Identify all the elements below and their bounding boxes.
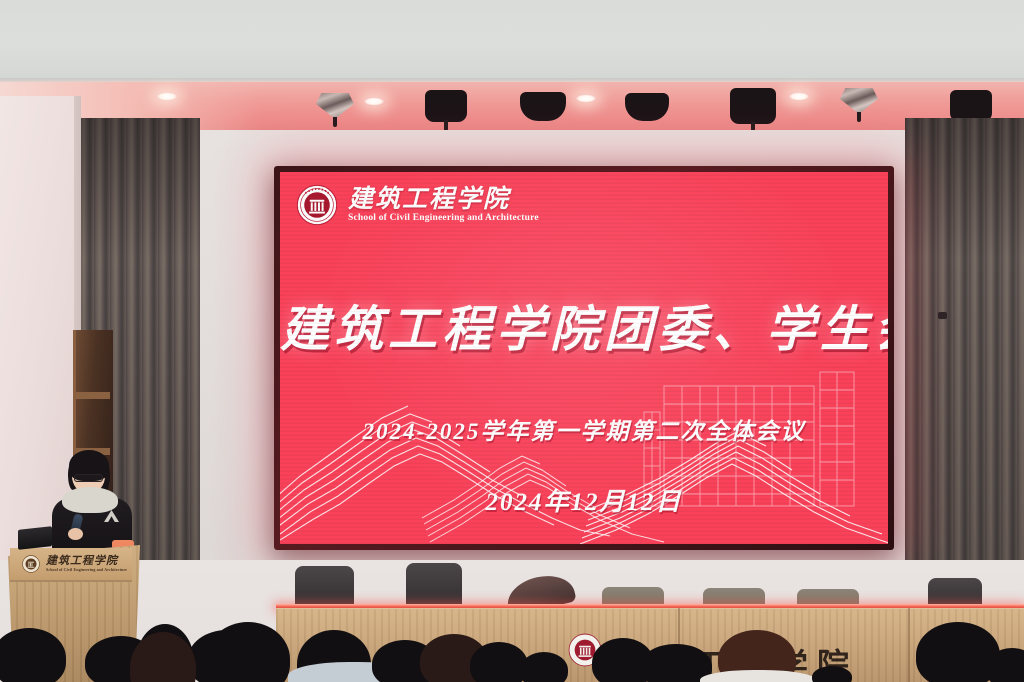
audience-head (812, 666, 852, 682)
screen-logo-english: School of Civil Engineering and Architec… (348, 214, 539, 224)
recessed-downlight (575, 94, 597, 103)
stage-curtain-right (905, 118, 1024, 618)
recessed-downlight (156, 92, 178, 101)
college-column-emblem-icon (296, 184, 338, 226)
stage-spotlight (520, 92, 566, 121)
speaker-hand (68, 528, 83, 540)
podium-chinese: 建筑工程学院 (46, 556, 127, 567)
mountain-line-art (280, 384, 888, 544)
head-table-seam (908, 608, 910, 682)
screen-dateline: 2024年12月12日 (280, 482, 888, 518)
audience-head (520, 652, 568, 682)
audience-shoulder (700, 670, 816, 682)
screen-headline: 建筑工程学院团委、学生会 (280, 290, 888, 361)
speaker-hood (62, 487, 118, 513)
lecture-hall-scene: 建筑工程学院 School of Civil Engineering and A… (0, 0, 1024, 682)
podium-emblem-icon (22, 555, 40, 573)
podium-nameplate: 建筑工程学院 School of Civil Engineering and A… (10, 548, 132, 582)
podium-laptop (18, 526, 52, 550)
stage-spotlight (625, 93, 669, 121)
audience-head (470, 642, 528, 682)
recessed-downlight (788, 92, 810, 101)
wall-speaker-box (938, 312, 947, 319)
stage-spotlight-stem (857, 112, 861, 122)
door-shelf (76, 392, 110, 399)
stage-spotlight (730, 88, 776, 124)
led-stage-screen: 建筑工程学院 School of Civil Engineering and A… (274, 166, 894, 550)
stage-spotlight-stem (333, 117, 337, 127)
screen-surface: 建筑工程学院 School of Civil Engineering and A… (280, 172, 888, 544)
screen-logo-chinese: 建筑工程学院 (348, 187, 539, 212)
screen-logo-lockup: 建筑工程学院 School of Civil Engineering and A… (296, 184, 539, 226)
conference-chair (406, 563, 462, 610)
speaker-glasses (74, 474, 103, 482)
screen-subline: 2024-2025学年第一学期第二次全体会议 (280, 412, 888, 446)
screen-logo-text: 建筑工程学院 School of Civil Engineering and A… (348, 187, 539, 224)
recessed-downlight (363, 97, 385, 106)
ceiling (0, 0, 1024, 82)
stage-spotlight (425, 90, 467, 122)
podium-english: School of Civil Engineering and Architec… (46, 568, 127, 572)
podium-text: 建筑工程学院 School of Civil Engineering and A… (46, 556, 127, 572)
